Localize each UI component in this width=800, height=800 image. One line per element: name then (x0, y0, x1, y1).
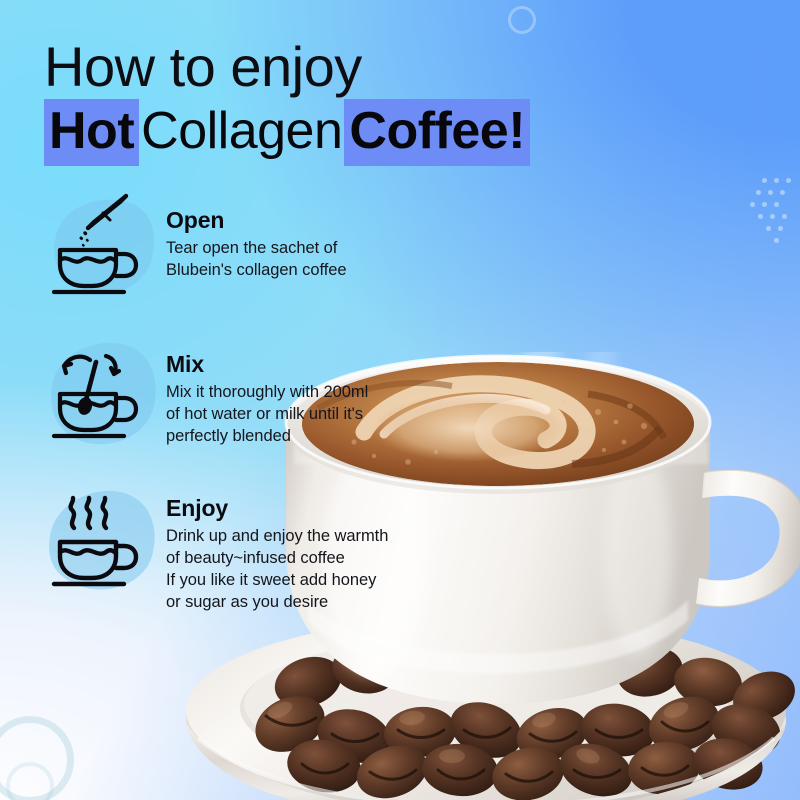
headline-coffee-highlight: Coffee! (344, 99, 530, 166)
headline-hot-highlight: Hot (44, 99, 139, 166)
headline-line-2: HotCollagenCoffee! (44, 102, 664, 160)
cup-with-spoon-icon (40, 338, 162, 450)
cup-with-sachet-icon (40, 192, 162, 304)
steps-list: Open Tear open the sachet of Blubein's c… (40, 192, 440, 613)
headline-collagen-word: Collagen (139, 102, 344, 160)
step-open-title: Open (166, 206, 346, 234)
headline: How to enjoy HotCollagenCoffee! (44, 36, 664, 160)
headline-line-1: How to enjoy (44, 36, 664, 98)
step-open-body: Tear open the sachet of Blubein's collag… (166, 237, 346, 281)
step-open: Open Tear open the sachet of Blubein's c… (40, 192, 440, 304)
step-mix-body: Mix it thoroughly with 200ml of hot wate… (166, 381, 368, 447)
step-enjoy-title: Enjoy (166, 494, 388, 522)
step-mix-title: Mix (166, 350, 368, 378)
step-enjoy: Enjoy Drink up and enjoy the warmth of b… (40, 484, 440, 613)
step-enjoy-text: Enjoy Drink up and enjoy the warmth of b… (166, 484, 388, 613)
step-enjoy-body: Drink up and enjoy the warmth of beauty~… (166, 525, 388, 613)
step-open-text: Open Tear open the sachet of Blubein's c… (166, 192, 346, 281)
poster-canvas: How to enjoy HotCollagenCoffee! (0, 0, 800, 800)
cup-with-steam-icon (40, 484, 162, 596)
step-mix-text: Mix Mix it thoroughly with 200ml of hot … (166, 338, 368, 447)
step-mix: Mix Mix it thoroughly with 200ml of hot … (40, 338, 440, 450)
